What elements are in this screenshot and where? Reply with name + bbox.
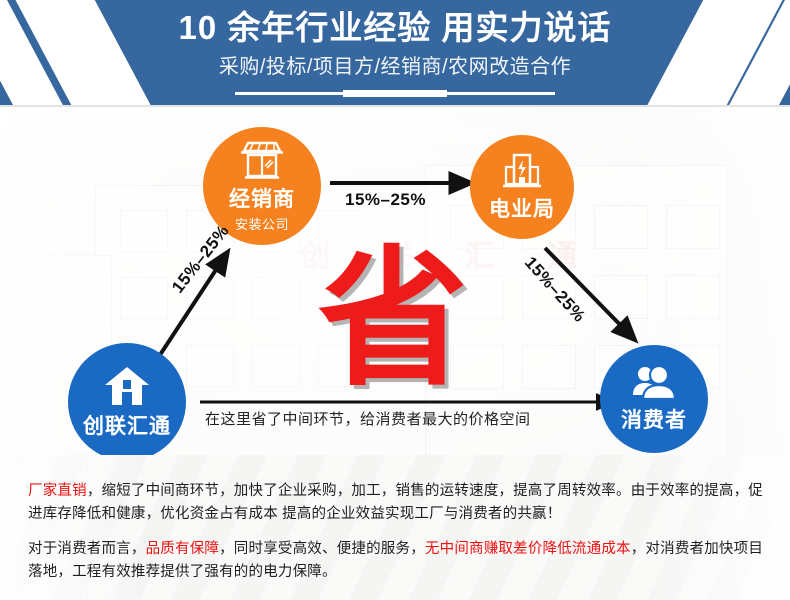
header-underline-left (235, 92, 343, 95)
header-underline-right (447, 92, 555, 95)
node-factory[interactable]: 创联汇通 (68, 343, 186, 455)
home-icon (104, 365, 150, 407)
node-dealer-sublabel: 安装公司 (235, 214, 289, 233)
node-factory-label: 创联汇通 (83, 410, 171, 440)
header-divider (0, 105, 790, 107)
header-title: 10 余年行业经验 用实力说话 (0, 0, 790, 47)
footer-paragraph-1: 厂家直销，缩短了中间商环节，加快了企业采购，加工，销售的运转速度，提高了周转效率… (28, 480, 770, 527)
footer-paragraph-2-mid: ，同时享受高效、便捷的服务， (219, 541, 425, 557)
diagram-stage: 创 联 汇 通 省 15%–25% 15%–25% 15%–25% 在这里省了中… (0, 105, 790, 455)
header-banner: 10 余年行业经验 用实力说话 采购/投标/项目方/经销商/农网改造合作 (0, 0, 790, 105)
promo-banner-page: 10 余年行业经验 用实力说话 采购/投标/项目方/经销商/农网改造合作 (0, 0, 790, 600)
footer-highlight-direct-sales: 厂家直销 (28, 483, 87, 499)
header-subtitle: 采购/投标/项目方/经销商/农网改造合作 (0, 47, 790, 79)
node-bureau-label: 电业局 (489, 193, 555, 223)
footer-paragraph-1-rest: ，缩短了中间商环节，加快了企业采购，加工，销售的运转速度，提高了周转效率。由于效… (28, 483, 763, 522)
node-consumer-label: 消费者 (621, 404, 687, 434)
arrow-label-dealer-to-bureau: 15%–25% (345, 190, 426, 210)
footer-highlight-no-middleman: 无中间商赚取差价降低流通成本 (425, 541, 631, 557)
footer-paragraph-2-lead: 对于消费者而言， (28, 541, 146, 557)
footer-text-block: 厂家直销，缩短了中间商环节，加快了企业采购，加工，销售的运转速度，提高了周转效率… (0, 455, 790, 600)
users-icon (632, 365, 676, 401)
node-consumer[interactable]: 消费者 (600, 345, 708, 453)
footer-highlight-quality: 品质有保障 (146, 541, 220, 557)
power-building-icon (501, 152, 543, 190)
storefront-icon (239, 140, 285, 180)
header-underline (235, 91, 555, 96)
footer-paragraph-2: 对于消费者而言，品质有保障，同时享受高效、便捷的服务，无中间商赚取差价降低流通成… (28, 538, 770, 585)
node-dealer-label: 经销商 (229, 183, 295, 213)
header-underline-center (343, 90, 447, 97)
arrow-label-factory-to-consumer: 在这里省了中间环节，给消费者最大的价格空间 (205, 408, 531, 429)
node-bureau[interactable]: 电业局 (470, 135, 574, 239)
